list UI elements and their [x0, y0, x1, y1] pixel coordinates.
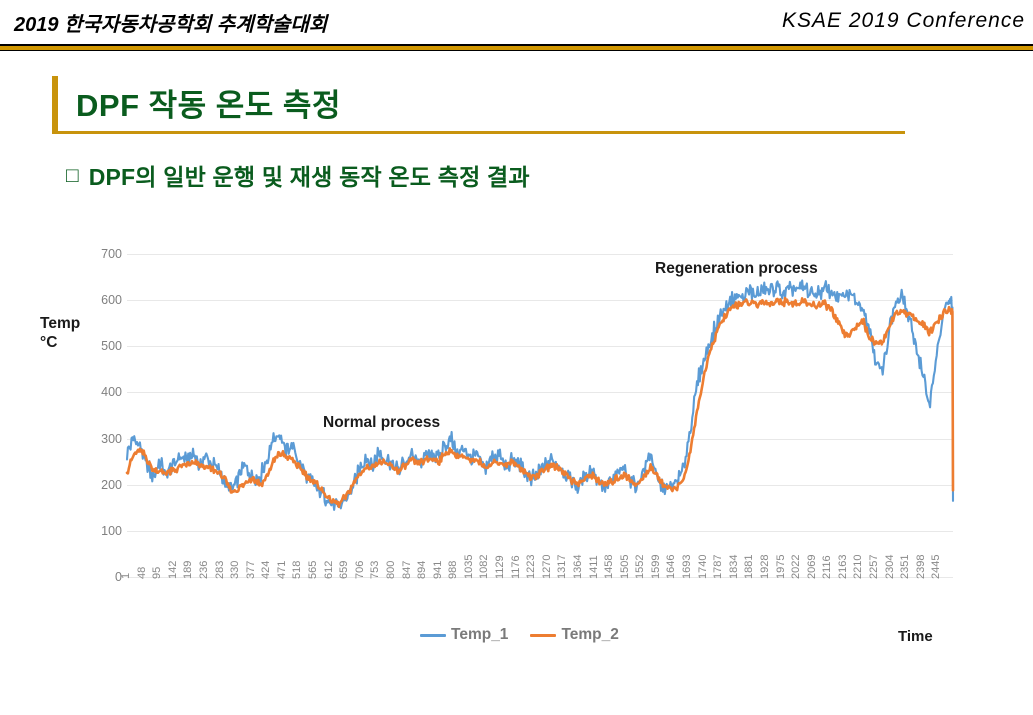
x-tick-label: 2069 [806, 555, 818, 579]
x-tick-label: 1270 [541, 555, 553, 579]
chart-legend: Temp_1Temp_2 [420, 626, 619, 644]
header-left-title: 2019 한국자동차공학회 추계학술대회 [14, 8, 327, 37]
legend-label: Temp_2 [561, 626, 618, 644]
x-tick-label: 2304 [884, 555, 896, 579]
x-tick-label: 1505 [619, 555, 631, 579]
x-tick-label: 2022 [790, 555, 802, 579]
y-tick-label: 500 [82, 339, 122, 353]
slide-header: 2019 한국자동차공학회 추계학술대회 KSAE 2019 Conferenc… [0, 0, 1033, 46]
x-tick-label: 2210 [852, 555, 864, 579]
bullet-row: □ DPF의 일반 운행 및 재생 동작 온도 측정 결과 [66, 158, 530, 192]
x-tick-label: 2257 [868, 555, 880, 579]
header-divider-rule [0, 44, 1033, 51]
annotation-normal-process: Normal process [323, 414, 440, 432]
x-tick-label: 1975 [775, 555, 787, 579]
header-right-title: KSAE 2019 Conference [782, 9, 1025, 33]
x-tick-label: 753 [369, 561, 381, 579]
x-tick-label: 1223 [525, 555, 537, 579]
x-tick-label: 1035 [463, 555, 475, 579]
x-tick-label: 1 [120, 573, 132, 579]
x-tick-label: 1646 [665, 555, 677, 579]
x-tick-label: 1599 [650, 555, 662, 579]
legend-label: Temp_1 [451, 626, 508, 644]
x-tick-label: 800 [385, 561, 397, 579]
x-tick-label: 1740 [697, 555, 709, 579]
y-tick-label: 700 [82, 247, 122, 261]
x-tick-label: 894 [416, 561, 428, 579]
x-tick-label: 2351 [899, 555, 911, 579]
x-tick-label: 189 [182, 561, 194, 579]
legend-swatch-icon [530, 634, 556, 637]
x-tick-label: 1881 [743, 555, 755, 579]
x-tick-label: 283 [214, 561, 226, 579]
x-tick-label: 95 [151, 567, 163, 579]
page-title: DPF 작동 온도 측정 [76, 80, 341, 125]
x-tick-label: 424 [260, 561, 272, 579]
x-tick-label: 1176 [510, 555, 522, 579]
x-tick-label: 706 [354, 561, 366, 579]
square-bullet-icon: □ [66, 165, 79, 186]
x-tick-label: 1834 [728, 555, 740, 579]
x-tick-label: 941 [432, 561, 444, 579]
x-tick-label: 236 [198, 561, 210, 579]
x-tick-label: 988 [447, 561, 459, 579]
title-accent-bar [52, 76, 58, 132]
x-tick-label: 1082 [478, 555, 490, 579]
x-tick-label: 659 [338, 561, 350, 579]
x-tick-label: 1693 [681, 555, 693, 579]
y-tick-label: 300 [82, 432, 122, 446]
x-tick-label: 471 [276, 561, 288, 579]
temperature-line-chart: Temp °C 7006005004003002001000 Normal pr… [20, 228, 1015, 653]
title-underline [52, 131, 905, 134]
x-tick-label: 2445 [930, 555, 942, 579]
y-tick-label: 400 [82, 385, 122, 399]
y-tick-label: 200 [82, 478, 122, 492]
legend-swatch-icon [420, 634, 446, 637]
y-tick-label: 600 [82, 293, 122, 307]
x-tick-label: 518 [291, 561, 303, 579]
x-tick-label: 2116 [821, 555, 833, 579]
bullet-text: DPF의 일반 운행 및 재생 동작 온도 측정 결과 [89, 158, 530, 192]
x-tick-label: 1364 [572, 555, 584, 579]
y-tick-label: 0 [82, 570, 122, 584]
x-axis-title: Time [898, 628, 933, 645]
x-tick-label: 1129 [494, 555, 506, 579]
x-tick-label: 142 [167, 561, 179, 579]
legend-entry-temp_2[interactable]: Temp_2 [530, 626, 618, 644]
x-tick-label: 612 [323, 561, 335, 579]
x-tick-label: 377 [245, 561, 257, 579]
x-tick-label: 1787 [712, 555, 724, 579]
series-paths [127, 254, 953, 577]
x-tick-label: 2398 [915, 555, 927, 579]
legend-entry-temp_1[interactable]: Temp_1 [420, 626, 508, 644]
annotation-regeneration-process: Regeneration process [655, 260, 818, 278]
x-tick-label: 330 [229, 561, 241, 579]
x-tick-label: 1317 [556, 555, 568, 579]
x-tick-label: 565 [307, 561, 319, 579]
x-tick-label: 1411 [588, 555, 600, 579]
x-tick-label: 2163 [837, 555, 849, 579]
x-tick-label: 847 [401, 561, 413, 579]
y-tick-label: 100 [82, 524, 122, 538]
x-tick-label: 48 [136, 567, 148, 579]
plot-area: Normal process Regeneration process [127, 254, 953, 577]
x-tick-label: 1928 [759, 555, 771, 579]
y-axis-ticks: 7006005004003002001000 [72, 254, 122, 577]
x-tick-label: 1552 [634, 555, 646, 579]
x-tick-label: 1458 [603, 555, 615, 579]
